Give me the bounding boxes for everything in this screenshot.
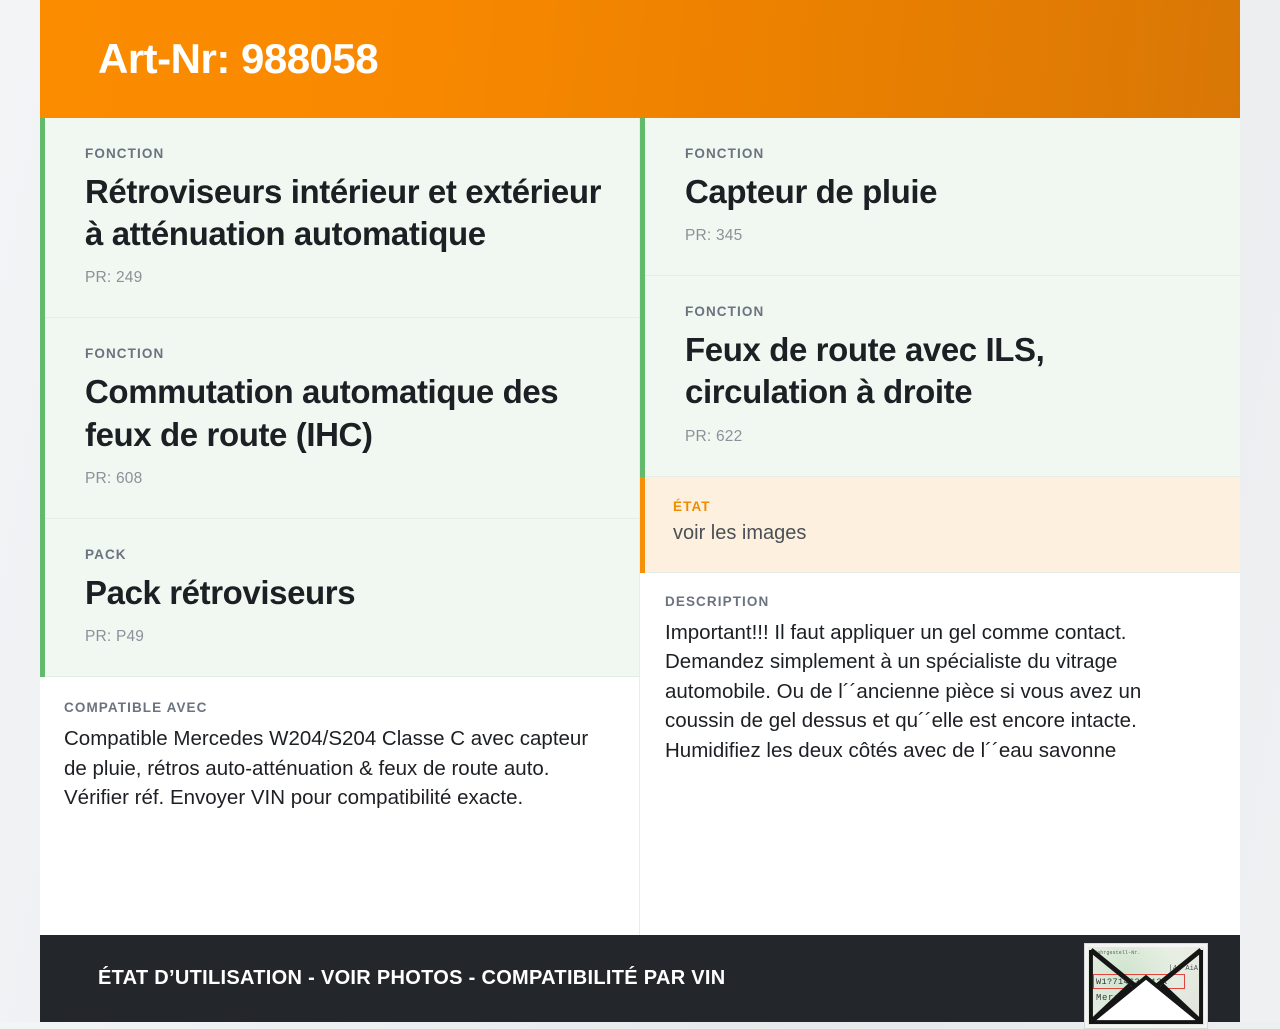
feature-kicker: FONCTION [685, 146, 1214, 161]
feature-card[interactable]: FONCTION Rétroviseurs intérieur et extér… [40, 118, 639, 318]
feature-pr-code: PR: P49 [85, 628, 613, 646]
feature-title: Commutation automatique des feux de rout… [85, 371, 613, 455]
content-body: FONCTION Rétroviseurs intérieur et extér… [40, 118, 1240, 935]
product-panel: Art-Nr: 988058 FONCTION Rétroviseurs int… [40, 0, 1240, 1022]
footer-notice: ÉTAT D’UTILISATION - VOIR PHOTOS - COMPA… [98, 967, 726, 990]
feature-card[interactable]: FONCTION Feux de route avec ILS, circula… [640, 276, 1240, 476]
feature-pr-code: PR: 249 [85, 269, 613, 287]
envelope-icon [1089, 948, 1203, 1024]
feature-card[interactable]: FONCTION Capteur de pluie PR: 345 [640, 118, 1240, 276]
right-column-filler [640, 791, 1240, 935]
feature-title: Feux de route avec ILS, circulation à dr… [685, 329, 1214, 413]
feature-card[interactable]: PACK Pack rétroviseurs PR: P49 [40, 519, 639, 677]
state-value: voir les images [673, 520, 1214, 546]
compatibility-kicker: COMPATIBLE AVEC [64, 700, 613, 715]
feature-pr-code: PR: 608 [85, 470, 613, 488]
feature-kicker: PACK [85, 547, 613, 562]
description-text: Important!!! Il faut appliquer un gel co… [665, 618, 1214, 766]
vin-document-badge[interactable]: Fahrgestell-Nr. |4| AiA W1?71463J31?R Me… [1084, 943, 1208, 1029]
page-title: Art-Nr: 988058 [98, 38, 378, 80]
feature-title: Rétroviseurs intérieur et extérieur à at… [85, 171, 613, 255]
compatibility-block: COMPATIBLE AVEC Compatible Mercedes W204… [40, 677, 639, 839]
state-card[interactable]: ÉTAT voir les images [640, 477, 1240, 573]
header-bar: Art-Nr: 988058 [40, 0, 1240, 118]
state-kicker: ÉTAT [673, 499, 1214, 514]
footer-bar: ÉTAT D’UTILISATION - VOIR PHOTOS - COMPA… [40, 935, 1240, 1022]
feature-card[interactable]: FONCTION Commutation automatique des feu… [40, 318, 639, 518]
left-column-filler [40, 839, 639, 935]
left-column: FONCTION Rétroviseurs intérieur et extér… [40, 118, 640, 935]
compatibility-text: Compatible Mercedes W204/S204 Classe C a… [64, 724, 613, 813]
feature-pr-code: PR: 345 [685, 227, 1214, 245]
feature-kicker: FONCTION [685, 304, 1214, 319]
feature-title: Capteur de pluie [685, 171, 1214, 213]
feature-pr-code: PR: 622 [685, 428, 1214, 446]
feature-kicker: FONCTION [85, 146, 613, 161]
feature-kicker: FONCTION [85, 346, 613, 361]
right-column: FONCTION Capteur de pluie PR: 345 FONCTI… [640, 118, 1240, 935]
description-block: DESCRIPTION Important!!! Il faut appliqu… [640, 573, 1240, 792]
description-kicker: DESCRIPTION [665, 594, 1214, 609]
feature-title: Pack rétroviseurs [85, 572, 613, 614]
